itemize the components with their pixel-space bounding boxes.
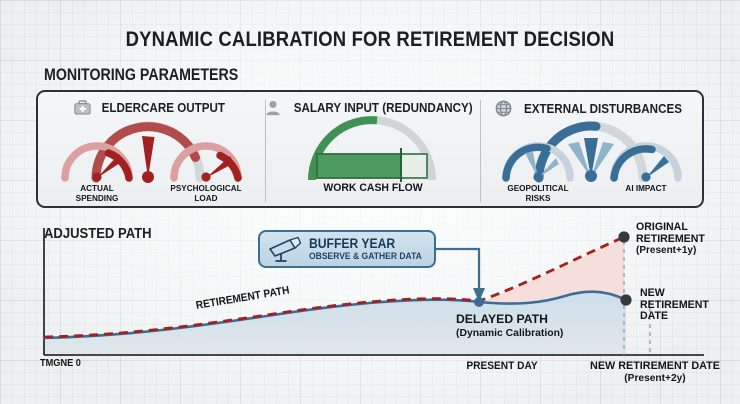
axis-label-origin: TMGNE 0 (40, 358, 81, 369)
adjusted-path-chart (0, 0, 740, 404)
axis-new-date-sub: (Present+2y) (624, 373, 685, 384)
telescope-icon (268, 236, 302, 262)
marker-new-retirement[interactable] (620, 294, 631, 305)
marker-original-retirement[interactable] (618, 231, 629, 242)
original-retirement-sub: (Present+1y) (636, 245, 696, 256)
axis-new-date-main: NEW RETIREMENT DATE (590, 360, 720, 372)
label-original-retirement: ORIGINALRETIREMENT (Present+1y) (636, 222, 705, 257)
buffer-year-callout[interactable]: BUFFER YEAR OBSERVE & GATHER DATA (258, 230, 436, 268)
buffer-year-subtitle: OBSERVE & GATHER DATA (309, 252, 422, 261)
axis-label-present-day: PRESENT DAY (441, 360, 563, 372)
delayed-path-subtitle: (Dynamic Calibration) (456, 328, 563, 339)
chart-title: ADJUSTED PATH (44, 225, 152, 242)
label-delayed-path: DELAYED PATH (Dynamic Calibration) (456, 313, 656, 340)
label-new-retirement-date: NEWRETIREMENTDATE (640, 288, 709, 323)
buffer-year-title: BUFFER YEAR (309, 237, 418, 251)
marker-divergence-point[interactable] (474, 297, 484, 307)
delayed-path-title: DELAYED PATH (456, 312, 548, 326)
callout-connector (436, 249, 479, 289)
axis-label-new-retirement-date: NEW RETIREMENT DATE (Present+2y) (570, 360, 740, 385)
